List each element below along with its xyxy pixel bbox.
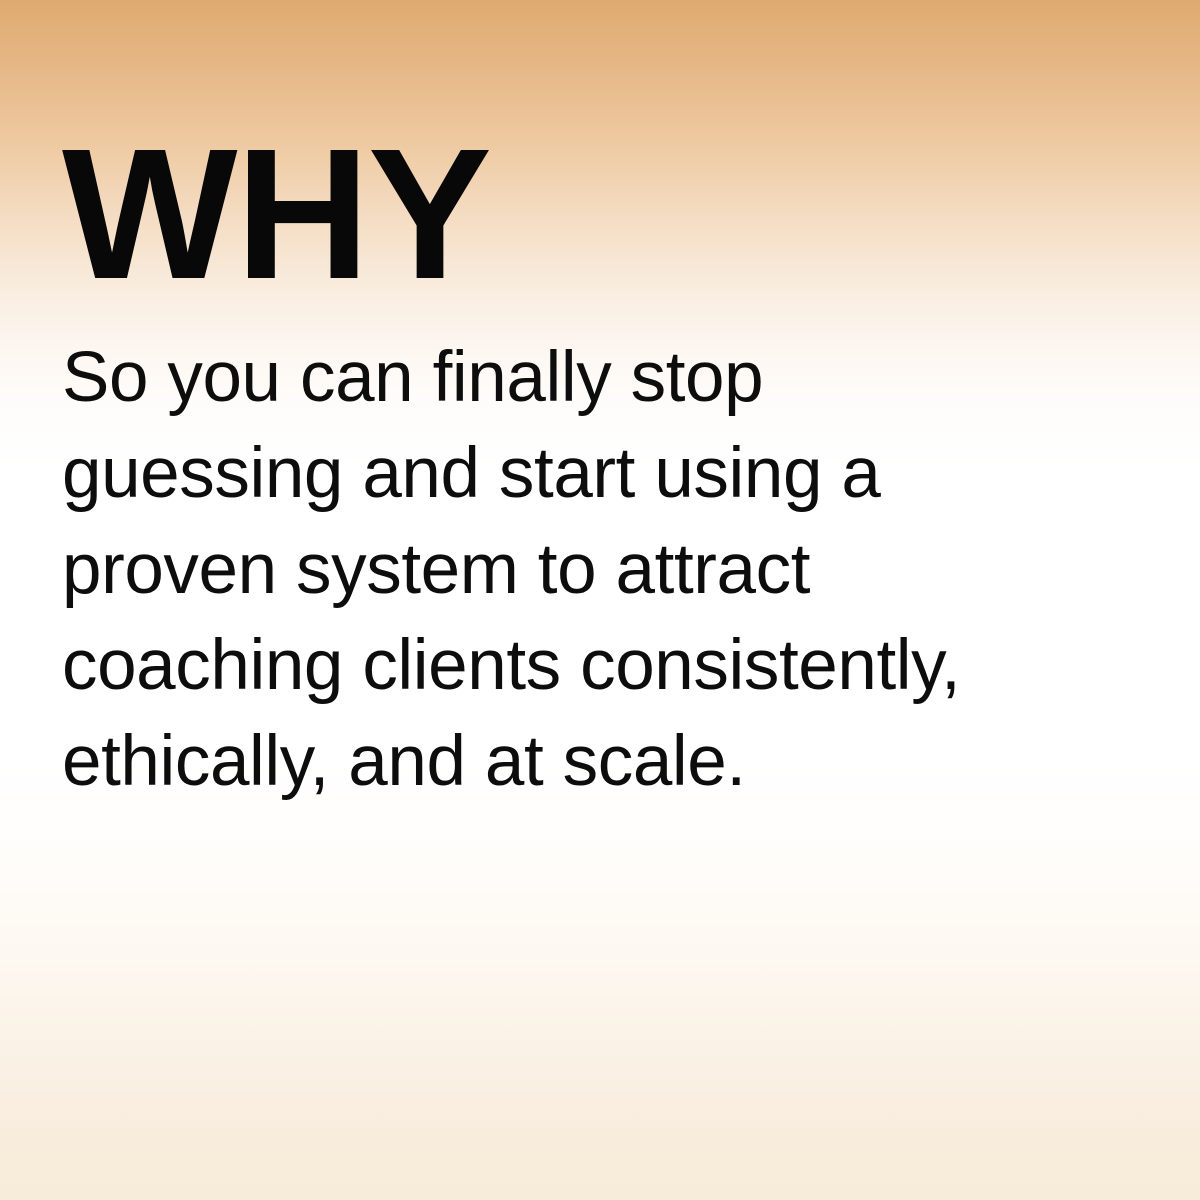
slide-canvas: WHY So you can finally stop guessing and…: [0, 0, 1200, 1200]
page-title: WHY: [62, 122, 490, 308]
body-line: guessing and start using a: [62, 426, 1122, 522]
body-copy: So you can finally stop guessing and sta…: [62, 330, 1122, 810]
body-line: So you can finally stop: [62, 330, 1122, 426]
body-line: coaching clients consistently,: [62, 618, 1122, 714]
body-line: proven system to attract: [62, 522, 1122, 618]
body-line: ethically, and at scale.: [62, 714, 1122, 810]
